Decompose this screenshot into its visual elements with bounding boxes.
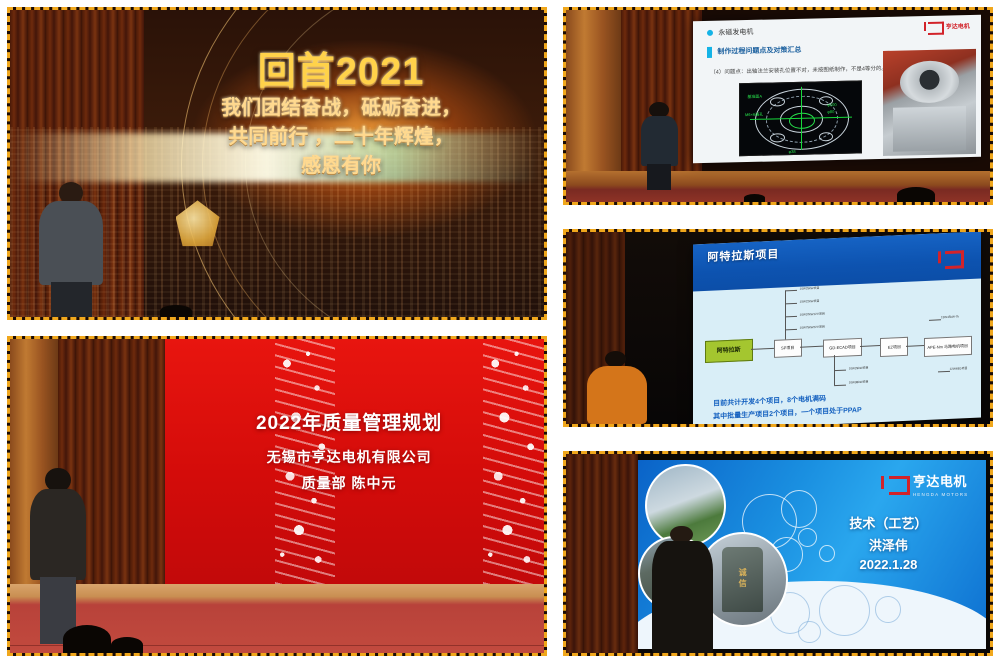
flow-leaf-top-0: 10W25kW项目 [800,285,820,290]
flow-leaf-bottom-1: 10W38kW项目 [849,380,869,385]
flow-leaf-right-1: 12W48G项目 [950,366,968,371]
slide-company-2: 无锡市亨达电机有限公司 [245,447,453,467]
stone-char-2: 信 [739,579,747,590]
slide-title-4: 阿特拉斯项目 [708,245,780,264]
slide-text-block-1: 回首2021 我们团结奋战，砥砺奋进， 共同前行 ，二十年辉煌， 感恩有你 [149,53,534,180]
flow-root-node: 阿特拉斯 [705,338,753,363]
slide-footer-4: 目前共计开发4个项目，8个电机满码 其中批量生产项目2个项目，一个项目处于PPA… [713,386,967,424]
flow-node-1: GD-ECAD项目 [823,337,862,358]
slide-title-2: 2022年质量管理规划 [245,408,453,435]
slide-line-5a: 技术（工艺） [815,513,961,532]
hengda-mark-icon-4 [945,250,964,269]
hengda-logo-3: 亨达电机 [928,20,970,34]
presenter-1 [31,182,111,317]
stone-char-1: 诚 [739,568,747,579]
integrity-stone: 诚 信 [722,547,764,612]
cad-label-8: φ38 [789,148,796,153]
panel-technology-process[interactable]: 诚 信 亨达电机 HENGDA MOTORS 技术（工艺） 洪泽伟 2022.1… [563,451,993,656]
stage-photo-5: 诚 信 亨达电机 HENGDA MOTORS 技术（工艺） 洪泽伟 2022.1… [566,454,990,653]
presenter-5 [651,526,715,653]
slide-bullet-3: 永磁发电机 [708,27,754,38]
presenter-4 [587,351,646,424]
flow-leaf-right-0: 15W45kW-7k [941,314,959,319]
cad-label-4: φ100 [828,101,837,106]
panel-retrospective-2021[interactable]: 回首2021 我们团结奋战，砥砺奋进， 共同前行 ，二十年辉煌， 感恩有你 [7,7,547,320]
slide-title-1: 回首2021 [149,53,534,93]
hengda-brand-3: 亨达电机 [946,24,970,31]
slide-section-3: 制作过程问题点及对策汇总 [708,44,802,57]
slide-bullet-text-3: 永磁发电机 [719,27,754,38]
flow-node-3: APE-Nm 马路电机项目 [924,336,972,357]
panel-quality-plan-2022[interactable]: 2022年质量管理规划 无锡市亨达电机有限公司 质量部 陈中元 [7,336,547,656]
flange-photo [884,49,976,156]
hengda-logo-5: 亨达电机 HENGDA MOTORS [889,473,969,497]
stage-photo-2: 2022年质量管理规划 无锡市亨达电机有限公司 质量部 陈中元 [10,339,544,653]
flow-node-2: EZ项目 [881,337,909,357]
panel-pm-generator[interactable]: 永磁发电机 制作过程问题点及对策汇总 （4）问题点：出轴法兰安装孔位置不对，未按… [563,7,993,205]
slide-text-block-2: 2022年质量管理规划 无锡市亨达电机有限公司 质量部 陈中元 [245,408,453,493]
slide-line-1c: 感恩有你 [149,153,534,180]
stage-photo-4: 阿特拉斯项目 阿特拉斯 SP项目 GD-ECAD项目 EZ项目 APE-Nm 马… [566,232,990,424]
stage-photo-1: 回首2021 我们团结奋战，砥砺奋进， 共同前行 ，二十年辉煌， 感恩有你 [10,10,544,317]
photo-collage: 回首2021 我们团结奋战，砥砺奋进， 共同前行 ，二十年辉煌， 感恩有你 [0,0,1000,663]
flow-leaf-top-1: 15W22kW项目 [800,298,820,303]
presenter-3 [638,102,680,190]
slide-section-text-3: 制作过程问题点及对策汇总 [718,45,802,57]
hengda-mark-icon [928,21,944,34]
projection-screen-4: 阿特拉斯项目 阿特拉斯 SP项目 GD-ECAD项目 EZ项目 APE-Nm 马… [693,232,981,424]
flow-leaf-top-3: 10W75kW22V项目 [800,324,825,329]
hengda-brand-5: 亨达电机 [913,474,967,489]
slide-line-5b: 洪泽伟 [815,535,961,554]
bullet-dot-icon [708,30,714,36]
panel-atlas-project[interactable]: 阿特拉斯项目 阿特拉斯 SP项目 GD-ECAD项目 EZ项目 APE-Nm 马… [563,229,993,427]
slide-date-5: 2022.1.28 [815,557,961,572]
presenter-2 [26,468,90,644]
stage-photo-3: 永磁发电机 制作过程问题点及对策汇总 （4）问题点：出轴法兰安装孔位置不对，未按… [566,10,990,202]
cad-drawing: 基准面A M6×6通孔 φ100 φ80 φ38 [739,80,862,157]
cad-label-0: 基准面A [748,93,763,99]
slide-text-block-5: 技术（工艺） 洪泽伟 2022.1.28 [815,513,961,572]
cad-label-2: M6×6通孔 [745,112,763,118]
cad-label-5: φ80 [828,109,835,114]
hengda-brand-sub-5: HENGDA MOTORS [913,492,969,497]
flow-node-0: SP项目 [774,338,802,358]
slide-line-1a: 我们团结奋战，砥砺奋进， [149,95,534,122]
slide-department-2: 质量部 陈中元 [245,473,453,493]
projection-screen-3: 永磁发电机 制作过程问题点及对策汇总 （4）问题点：出轴法兰安装孔位置不对，未按… [693,14,981,163]
flow-leaf-bottom-0: 10W29kW项目 [849,365,869,370]
hengda-mark-icon-5 [889,476,910,495]
flow-leaf-top-2: 10W37kW12V项目 [800,311,825,316]
slide-line-1b: 共同前行 ，二十年辉煌， [149,124,534,151]
section-bar-icon [708,46,713,57]
